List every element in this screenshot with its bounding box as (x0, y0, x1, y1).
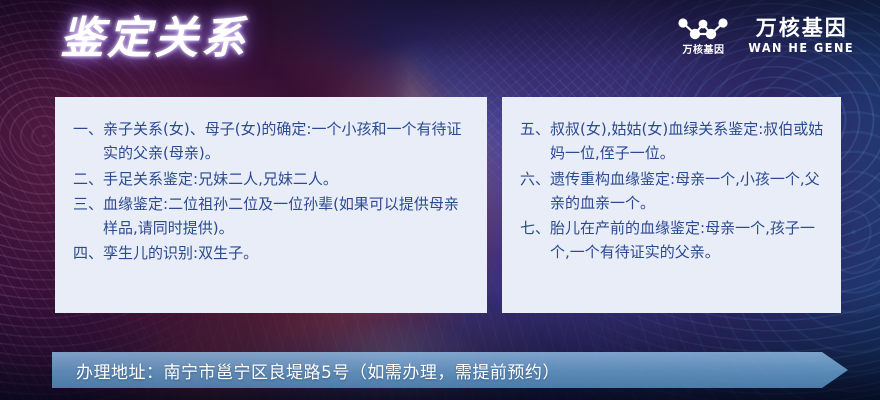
list-item-text: 叔叔(女),姑姑(女)血绿关系鉴定:叔伯或姑妈一位,侄子一位。 (550, 117, 825, 166)
list-item-text: 孪生儿的识别:双生子。 (103, 241, 471, 265)
list-item-number: 五、 (520, 117, 550, 141)
panel-right: 五、 叔叔(女),姑姑(女)血绿关系鉴定:叔伯或姑妈一位,侄子一位。 六、 遗传… (502, 97, 841, 313)
logo-mark: 万核基因 (675, 16, 731, 56)
list-item-text: 胎儿在产前的血缘鉴定:母亲一个,孩子一个,一个有待证实的父亲。 (550, 216, 825, 265)
logo-brand-cn: 万核基因 (756, 18, 848, 39)
panel-left: 一、 亲子关系(女)、母子(女)的确定:一个小孩和一个有待证实的父亲(母亲)。 … (55, 97, 487, 313)
list-item-text: 手足关系鉴定:兄妹二人,兄妹二人。 (103, 167, 471, 191)
list-item: 二、 手足关系鉴定:兄妹二人,兄妹二人。 (73, 167, 471, 191)
list-item: 四、 孪生儿的识别:双生子。 (73, 241, 471, 265)
list-item-number: 三、 (73, 192, 103, 216)
poster-root: 鉴定关系 (0, 0, 880, 400)
list-item: 五、 叔叔(女),姑姑(女)血绿关系鉴定:叔伯或姑妈一位,侄子一位。 (520, 117, 825, 166)
list-item-number: 二、 (73, 167, 103, 191)
list-item-number: 六、 (520, 167, 550, 191)
list-item: 三、 血缘鉴定:二位祖孙二位及一位孙辈(如果可以提供母亲样品,请同时提供)。 (73, 192, 471, 241)
list-item-text: 遗传重构血缘鉴定:母亲一个,小孩一个,父亲的血亲一个。 (550, 167, 825, 216)
list-item: 七、 胎儿在产前的血缘鉴定:母亲一个,孩子一个,一个有待证实的父亲。 (520, 216, 825, 265)
list-item: 一、 亲子关系(女)、母子(女)的确定:一个小孩和一个有待证实的父亲(母亲)。 (73, 117, 471, 166)
list-item-text: 亲子关系(女)、母子(女)的确定:一个小孩和一个有待证实的父亲(母亲)。 (103, 117, 471, 166)
list-item: 六、 遗传重构血缘鉴定:母亲一个,小孩一个,父亲的血亲一个。 (520, 167, 825, 216)
page-title: 鉴定关系 (60, 14, 248, 63)
address-bar: 办理地址：南宁市邕宁区良堤路5号（如需办理，需提前预约） (52, 352, 848, 388)
logo-mark-caption: 万核基因 (682, 46, 724, 56)
list-item-number: 一、 (73, 117, 103, 141)
list-item-number: 七、 (520, 216, 550, 240)
address-bar-text: 办理地址：南宁市邕宁区良堤路5号（如需办理，需提前预约） (76, 352, 560, 388)
logo-brand-en: WAN HE GENE (749, 42, 855, 54)
molecule-node-icon (675, 16, 731, 44)
logo-wordmark: 万核基因 WAN HE GENE (745, 18, 858, 54)
list-item-text: 血缘鉴定:二位祖孙二位及一位孙辈(如果可以提供母亲样品,请同时提供)。 (103, 192, 471, 241)
content-panels: 一、 亲子关系(女)、母子(女)的确定:一个小孩和一个有待证实的父亲(母亲)。 … (55, 97, 841, 313)
brand-logo: 万核基因 万核基因 WAN HE GENE (675, 16, 858, 56)
list-item-number: 四、 (73, 241, 103, 265)
